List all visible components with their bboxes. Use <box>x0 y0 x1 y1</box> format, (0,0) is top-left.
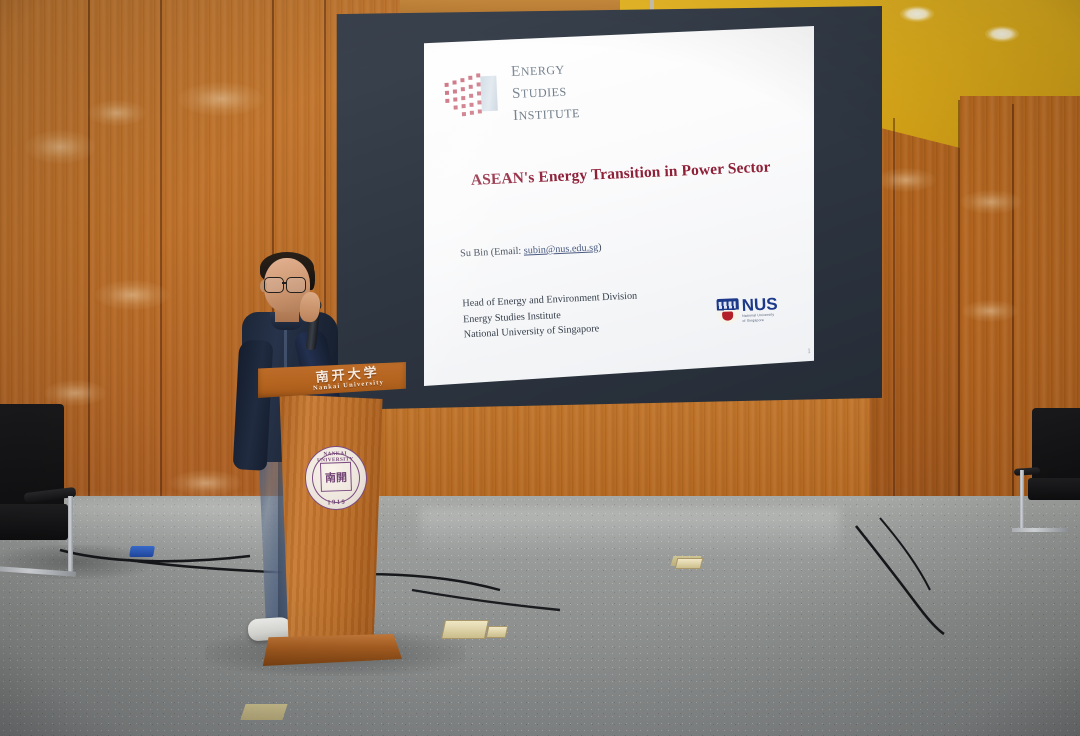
chair-leg <box>1012 528 1068 532</box>
esi-logo-block-icon <box>480 75 498 111</box>
esi-line-1: Energy <box>511 57 579 82</box>
nus-subtitle-2: of Singapore <box>742 317 778 323</box>
podium-top-panel: 南开大学 Nankai University <box>258 362 406 398</box>
author-prefix: Su Bin (Email: <box>460 246 522 260</box>
podium: 南开大学 Nankai University NANKAI UNIVERSITY… <box>258 362 406 672</box>
presentation-photo-scene: Energy Studies Institute ASEAN's Energy … <box>0 0 1080 736</box>
floor-outlet-box <box>486 626 509 638</box>
podium-base <box>260 634 402 666</box>
wall-panel-seam <box>958 100 960 520</box>
slide-affiliation: Head of Energy and Environment Division … <box>462 289 639 343</box>
slide-author-line: Su Bin (Email: subin@nus.edu.sg) <box>460 242 602 259</box>
chair-seat <box>0 504 68 540</box>
esi-logo-mark-icon <box>442 71 504 118</box>
nus-logo: NUS National University of Singapore <box>716 296 778 324</box>
glasses-lens-right <box>286 277 306 293</box>
nus-wordmark: NUS National University of Singapore <box>741 297 778 323</box>
slide-title: ASEAN's Energy Transition in Power Secto… <box>451 158 791 191</box>
esi-logo: Energy Studies Institute <box>442 57 581 128</box>
nus-crest-pattern <box>719 301 736 309</box>
podium-nameplate: 南开大学 Nankai University <box>297 364 398 394</box>
wall-panel-seam <box>1012 104 1014 514</box>
wall-panel-seam <box>160 0 162 512</box>
floor <box>0 496 1080 736</box>
chair-leg <box>0 566 76 576</box>
seal-center-characters: 南開 <box>320 462 352 492</box>
slide-page-number: 1 <box>807 347 811 355</box>
floor-outlet-box <box>675 558 704 569</box>
projection-screen-surface: Energy Studies Institute ASEAN's Energy … <box>424 26 814 386</box>
nus-crest-icon <box>716 298 739 324</box>
nankai-university-seal-icon: NANKAI UNIVERSITY 南開 1919 <box>304 445 368 511</box>
author-email-link[interactable]: subin@nus.edu.sg <box>524 242 599 256</box>
chair-seat <box>1028 478 1080 500</box>
blue-object-on-floor <box>129 546 155 557</box>
floor-marker <box>240 704 287 720</box>
nus-wordmark-text: NUS <box>741 297 778 315</box>
chair-right[interactable] <box>1018 408 1080 558</box>
esi-line-3: Institute <box>513 101 581 126</box>
slide-content: Energy Studies Institute ASEAN's Energy … <box>424 26 814 386</box>
wall-panel-seam <box>893 118 895 518</box>
glasses-lens-left <box>264 277 284 293</box>
esi-dot-grid-icon <box>442 72 484 118</box>
floor-outlet-box <box>441 620 489 639</box>
chair-left[interactable] <box>0 404 108 584</box>
podium-body <box>275 394 387 644</box>
speaker-glasses-icon <box>264 277 312 291</box>
author-suffix: ) <box>598 242 602 253</box>
esi-wordmark: Energy Studies Institute <box>511 57 581 125</box>
esi-line-2: Studies <box>512 79 580 104</box>
chair-leg <box>1020 470 1024 532</box>
chair-leg <box>68 496 73 576</box>
